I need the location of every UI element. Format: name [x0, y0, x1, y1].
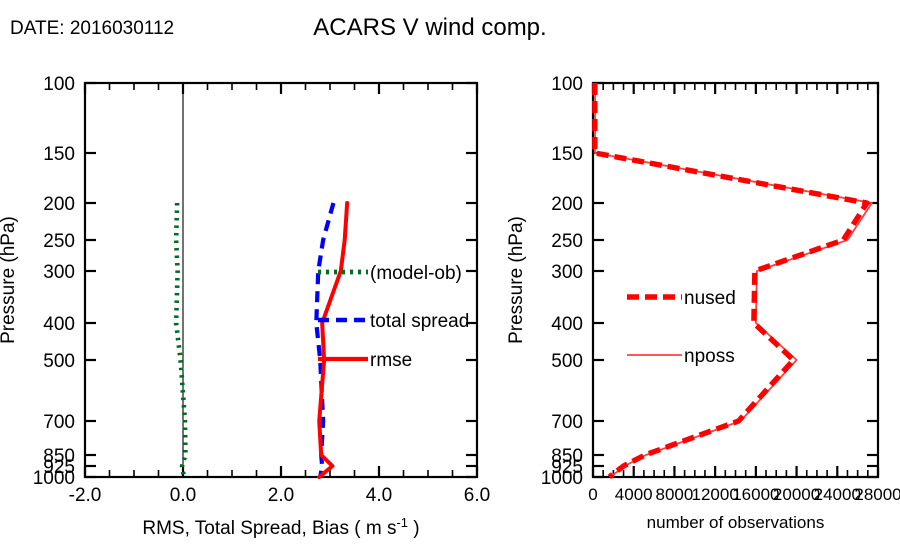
legend-total-spread: total spread — [318, 311, 469, 332]
right-plot-frame — [593, 83, 878, 477]
right-panel: 0400080001200016000200002400028000100150… — [506, 74, 900, 532]
legend-rmse: rmse — [318, 350, 412, 371]
curve-model-minus-ob — [176, 203, 185, 477]
right-ytick-label: 400 — [551, 314, 583, 335]
left-xtick-label: 4.0 — [366, 485, 392, 506]
right-ytick-label: 250 — [551, 231, 583, 252]
left-ytick-label: 1000 — [33, 468, 75, 489]
left-ytick-label: 250 — [43, 231, 75, 252]
legend-total-spread-label: total spread — [370, 311, 469, 332]
right-xaxis-title: number of observations — [647, 513, 825, 532]
left-yaxis-title: Pressure (hPa) — [0, 216, 19, 344]
legend-nposs: nposs — [627, 346, 735, 367]
curve-nused — [595, 83, 867, 477]
legend-rmse-label: rmse — [370, 350, 412, 371]
curve-nposs — [595, 83, 872, 477]
left-xaxis-title-sup: -1 — [396, 515, 408, 530]
left-panel: -2.00.02.04.06.0100150200250300400500700… — [0, 74, 490, 539]
left-xaxis-title-post: ) — [408, 518, 420, 539]
right-ytick-label: 100 — [551, 74, 583, 95]
right-yaxis-title: Pressure (hPa) — [506, 216, 527, 344]
left-xtick-label: 0.0 — [170, 485, 196, 506]
left-ytick-label: 200 — [43, 194, 75, 215]
right-xtick-label: 4000 — [615, 485, 653, 504]
right-ytick-label: 1000 — [541, 468, 583, 489]
figure-canvas: DATE: 2016030112 ACARS V wind comp. -2.0… — [0, 0, 900, 560]
left-xtick-label: 6.0 — [464, 485, 490, 506]
legend-nused: nused — [627, 288, 736, 309]
left-xtick-label: 2.0 — [268, 485, 294, 506]
right-xtick-label: 28000 — [854, 485, 900, 504]
legend-nused-label: nused — [684, 288, 736, 309]
right-xtick-label: 0 — [588, 485, 597, 504]
right-xtick-label: 8000 — [656, 485, 694, 504]
left-xaxis-title-pre: RMS, Total Spread, Bias ( m s — [142, 518, 396, 539]
left-ytick-label: 100 — [43, 74, 75, 95]
left-ytick-label: 500 — [43, 351, 75, 372]
legend-model-ob-label: (model-ob) — [370, 263, 462, 284]
right-ytick-label: 150 — [551, 144, 583, 165]
left-ytick-label: 150 — [43, 144, 75, 165]
right-ytick-label: 300 — [551, 262, 583, 283]
left-ytick-label: 700 — [43, 412, 75, 433]
legend-nposs-label: nposs — [684, 346, 735, 367]
plots-svg: -2.00.02.04.06.0100150200250300400500700… — [0, 0, 900, 560]
right-ytick-label: 500 — [551, 351, 583, 372]
right-ytick-label: 700 — [551, 412, 583, 433]
left-xaxis-title: RMS, Total Spread, Bias ( m s-1 ) — [142, 515, 419, 539]
right-ytick-label: 200 — [551, 194, 583, 215]
left-ytick-label: 300 — [43, 262, 75, 283]
left-ytick-label: 400 — [43, 314, 75, 335]
